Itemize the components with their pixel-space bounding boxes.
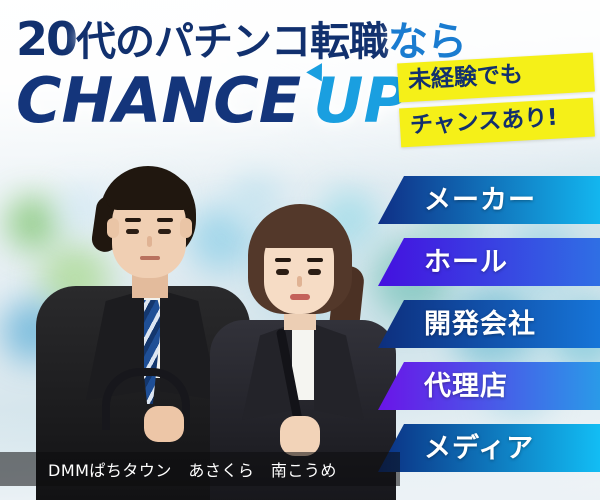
callout-badge: 未経験でも チャンスあり! [398, 58, 594, 142]
woman-mouth [290, 294, 310, 300]
menu-button-label: 代理店 [378, 373, 508, 400]
category-menu: メーカーホール開発会社代理店メディア [378, 176, 600, 486]
man-fringe [106, 176, 192, 210]
logo-word-chance: CHANCE [16, 64, 301, 137]
logo-word-up-text: UP [313, 64, 409, 137]
man-mouth [140, 256, 160, 260]
headline: 20代のパチンコ転職なら [16, 16, 466, 62]
man-hand [144, 406, 184, 442]
chance-up-logo: CHANCEUP [16, 70, 409, 132]
menu-button-4[interactable]: 代理店 [378, 362, 600, 410]
woman-brow-right [307, 258, 323, 262]
people-photo [0, 140, 430, 500]
callout-line-1: 未経験でも [397, 53, 595, 103]
menu-button-label: ホール [378, 249, 508, 276]
woman-brow-left [275, 258, 291, 262]
woman-fringe [256, 212, 344, 248]
man-eye-right [158, 229, 171, 234]
menu-button-2[interactable]: ホール [378, 238, 600, 286]
woman-nose [297, 276, 302, 287]
menu-button-5[interactable]: メディア [378, 424, 600, 472]
man-brow-right [157, 218, 173, 222]
caption-text: DMMぱちタウン あさくら 南こうめ [0, 457, 337, 481]
headline-main: 代のパチンコ転職 [76, 19, 388, 65]
woman-eye-left [276, 269, 289, 275]
logo-word-up: UP [313, 64, 409, 137]
menu-button-label: 開発会社 [378, 311, 536, 338]
menu-button-label: メーカー [378, 187, 536, 214]
man-ear-right [180, 218, 192, 238]
man-nose [147, 236, 152, 247]
caption-bar: DMMぱちタウン あさくら 南こうめ [0, 452, 400, 486]
callout-line-2: チャンスあり! [399, 98, 595, 148]
menu-button-1[interactable]: メーカー [378, 176, 600, 224]
menu-button-label: メディア [378, 435, 534, 462]
man-ear-left [107, 218, 119, 238]
menu-button-3[interactable]: 開発会社 [378, 300, 600, 348]
man-eye-left [126, 229, 139, 234]
woman-eye-right [308, 269, 321, 275]
woman-hand [280, 416, 320, 456]
man-brow-left [125, 218, 141, 222]
headline-number: 20 [16, 12, 76, 66]
advertisement-banner: 20代のパチンコ転職なら CHANCEUP 未経験でも チャンスあり! メーカー… [0, 0, 600, 500]
